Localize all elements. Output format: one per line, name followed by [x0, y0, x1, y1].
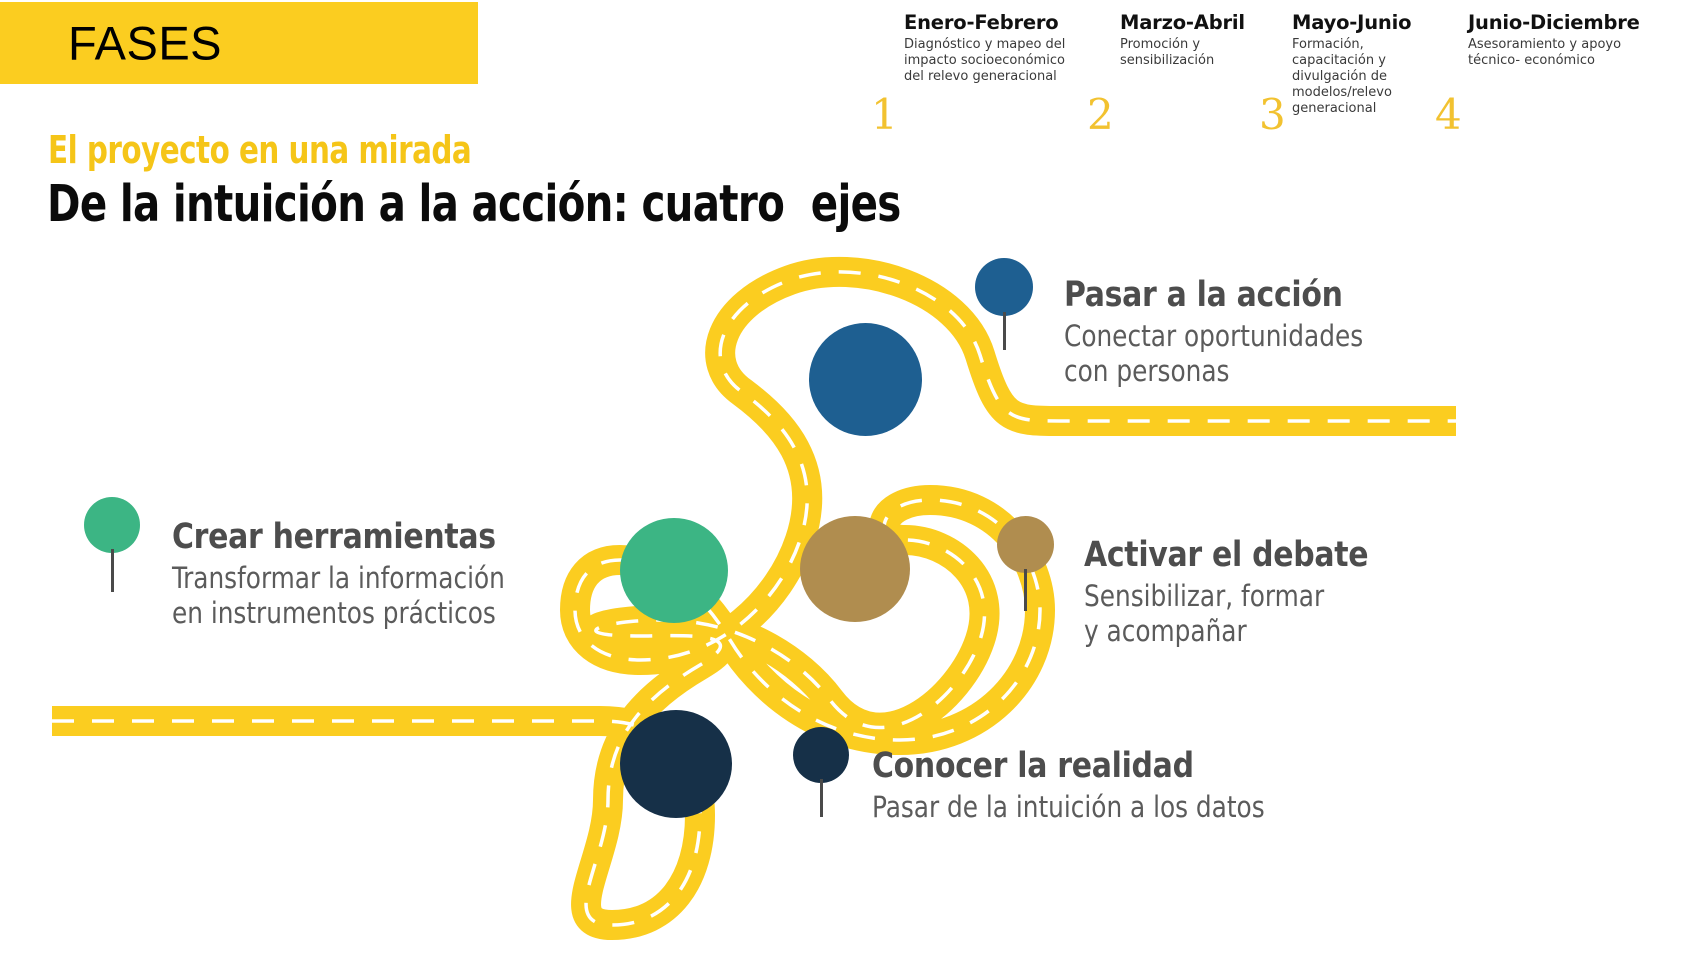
- pin-head-icon: [975, 258, 1033, 316]
- axis-label-conocer-la-realidad: Conocer la realidad Pasar de la intuició…: [872, 748, 1332, 825]
- phase-title-4: Junio-Diciembre: [1468, 12, 1673, 34]
- axis-circle-pasar-a-la-accion: [809, 323, 922, 436]
- pin-head-icon: [793, 727, 849, 783]
- pin-head-icon: [997, 516, 1054, 573]
- axis-circle-crear-herramientas: [620, 518, 728, 623]
- phase-item-1: 1 Enero-Febrero Diagnóstico y mapeo del …: [904, 12, 1079, 85]
- axis-title-activar-el-debate: Activar el debate: [1084, 537, 1483, 575]
- axis-description-pasar-a-la-accion: Conectar oportunidades con personas: [1064, 319, 1463, 390]
- pin-head-icon: [84, 497, 140, 553]
- pin-stem-icon: [1003, 312, 1006, 350]
- phase-title-2: Marzo-Abril: [1120, 12, 1270, 34]
- pin-marker-crear-herramientas: [84, 497, 144, 592]
- page-title: De la intuición a la acción: cuatro ejes: [47, 175, 901, 234]
- phase-item-2: 2 Marzo-Abril Promoción y sensibilizació…: [1120, 12, 1270, 69]
- axis-circle-conocer-la-realidad: [620, 710, 732, 818]
- phase-description-2: Promoción y sensibilización: [1120, 37, 1270, 69]
- pin-marker-pasar-a-la-accion: [975, 258, 1035, 350]
- phase-description-4: Asesoramiento y apoyo técnico- económico: [1468, 37, 1673, 69]
- axis-description-activar-el-debate: Sensibilizar, formar y acompañar: [1084, 579, 1483, 650]
- pin-marker-conocer-la-realidad: [793, 727, 853, 817]
- pin-stem-icon: [111, 549, 114, 592]
- phase-description-3: Formación, capacitación y divulgación de…: [1292, 37, 1422, 116]
- kicker-heading: El proyecto en una mirada: [48, 128, 471, 172]
- axis-description-crear-herramientas: Transformar la información en instrument…: [172, 561, 581, 632]
- axis-title-pasar-a-la-accion: Pasar a la acción: [1064, 277, 1463, 315]
- pin-stem-icon: [1024, 569, 1027, 611]
- slide-canvas: FASES 1 Enero-Febrero Diagnóstico y mape…: [0, 0, 1705, 958]
- axis-title-conocer-la-realidad: Conocer la realidad: [872, 748, 1309, 786]
- phases-group: 1 Enero-Febrero Diagnóstico y mapeo del …: [880, 12, 1690, 132]
- phase-description-1: Diagnóstico y mapeo del impacto socioeco…: [904, 37, 1079, 85]
- axis-label-activar-el-debate: Activar el debate Sensibilizar, formar y…: [1084, 537, 1504, 650]
- phase-number-2: 2: [1087, 94, 1114, 136]
- axis-title-crear-herramientas: Crear herramientas: [172, 519, 581, 557]
- phase-title-3: Mayo-Junio: [1292, 12, 1422, 34]
- fases-banner: FASES: [0, 2, 478, 84]
- axis-label-crear-herramientas: Crear herramientas Transformar la inform…: [172, 519, 602, 632]
- phase-number-4: 4: [1435, 94, 1462, 136]
- axis-description-conocer-la-realidad: Pasar de la intuición a los datos: [872, 790, 1309, 825]
- axis-label-pasar-a-la-accion: Pasar a la acción Conectar oportunidades…: [1064, 277, 1484, 390]
- phase-number-3: 3: [1259, 94, 1286, 136]
- phase-item-3: 3 Mayo-Junio Formación, capacitación y d…: [1292, 12, 1422, 117]
- pin-stem-icon: [820, 779, 823, 817]
- phase-item-4: 4 Junio-Diciembre Asesoramiento y apoyo …: [1468, 12, 1673, 69]
- pin-marker-activar-el-debate: [997, 516, 1057, 611]
- axis-circle-activar-el-debate: [800, 516, 910, 622]
- phase-number-1: 1: [871, 94, 898, 136]
- phase-title-1: Enero-Febrero: [904, 12, 1079, 34]
- fases-banner-label: FASES: [68, 16, 222, 71]
